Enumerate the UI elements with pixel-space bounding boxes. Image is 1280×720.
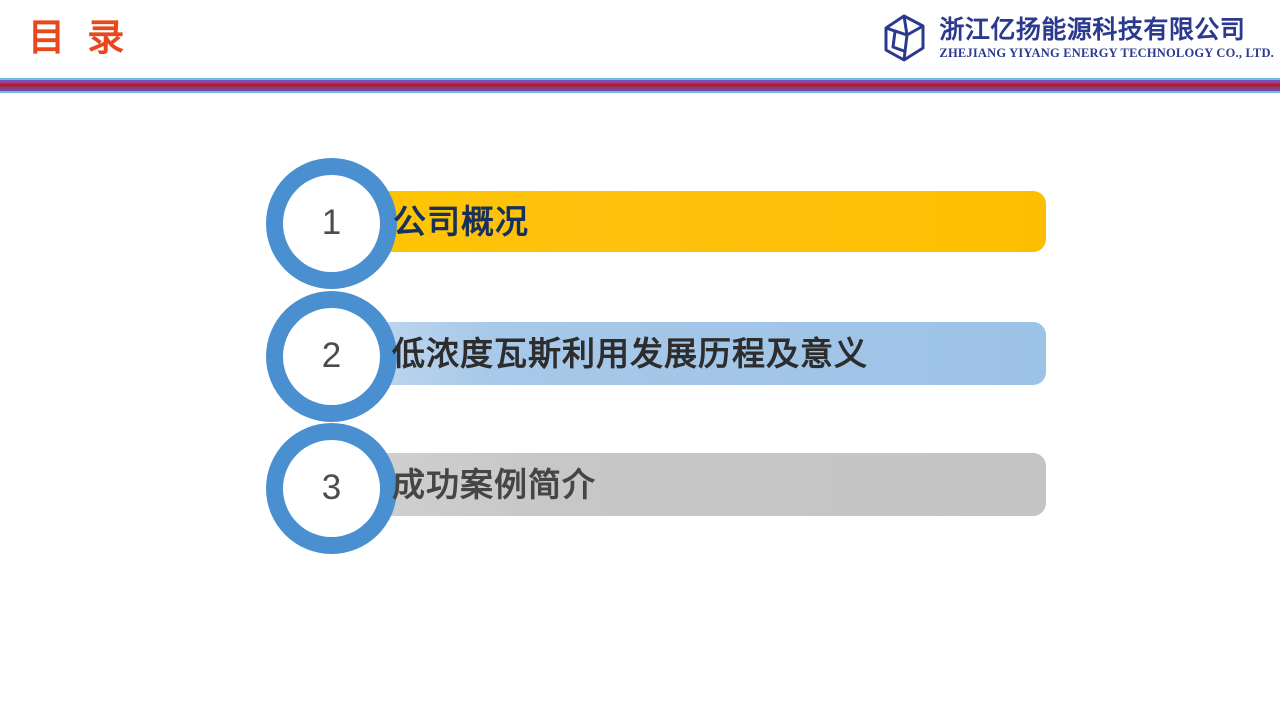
toc-ring-inner-1: 1 (283, 175, 380, 272)
toc-item-3[interactable]: 3 成功案例简介 (0, 423, 1280, 553)
toc-ring-inner-2: 2 (283, 308, 380, 405)
toc-number-1: 1 (322, 205, 341, 240)
toc-item-2[interactable]: 2 低浓度瓦斯利用发展历程及意义 (0, 290, 1280, 420)
toc-ring-2[interactable]: 2 (266, 291, 397, 422)
toc-label-1: 公司概况 (393, 191, 529, 252)
toc-ring-inner-3: 3 (283, 440, 380, 537)
toc-label-2: 低浓度瓦斯利用发展历程及意义 (392, 322, 868, 385)
toc-ring-3[interactable]: 3 (266, 423, 397, 554)
slide-canvas: 目 录 浙江亿扬能源科技有限公司 ZHEJIANG YIYANG ENERGY … (0, 0, 1280, 720)
toc-item-1[interactable]: 1 公司概况 (0, 158, 1280, 288)
toc-list: 1 公司概况 2 低浓度瓦斯利用发展历程及意义 3 成功案例简介 (0, 0, 1280, 720)
toc-number-3: 3 (322, 470, 341, 505)
toc-ring-1[interactable]: 1 (266, 158, 397, 289)
toc-label-3: 成功案例简介 (392, 453, 596, 516)
toc-number-2: 2 (322, 338, 341, 373)
